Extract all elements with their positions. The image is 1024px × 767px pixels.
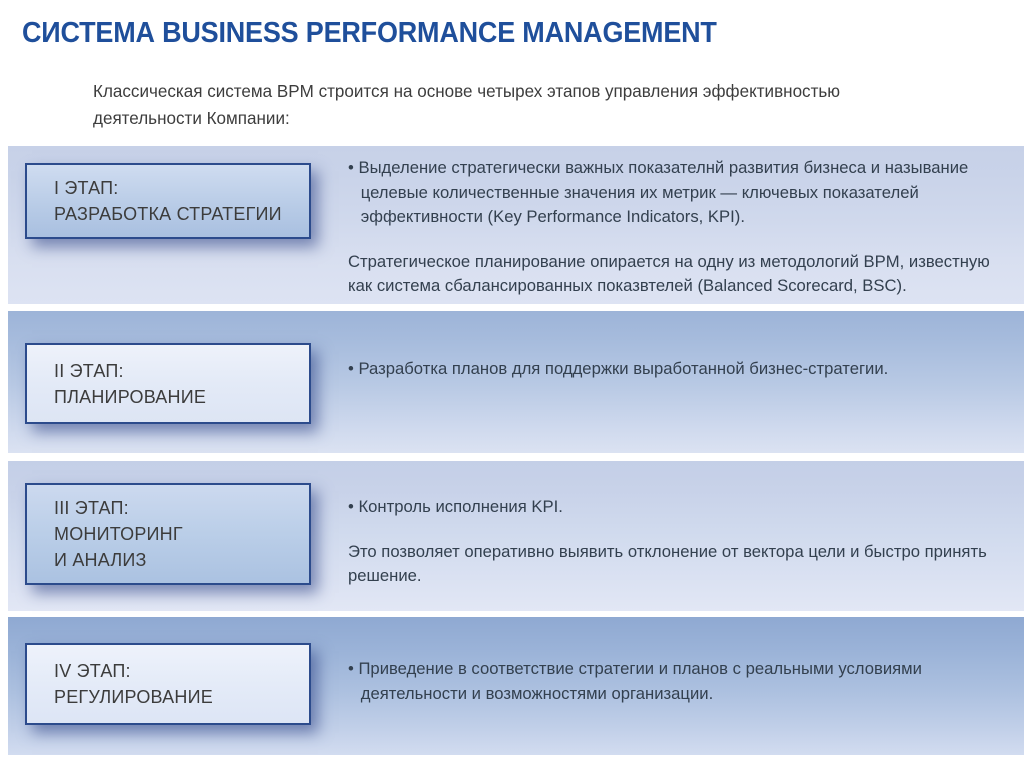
stage-row-4: IV ЭТАП: РЕГУЛИРОВАНИЕ • Приведение в со… (8, 617, 1024, 755)
intro-paragraph: Классическая система BPM строится на осн… (93, 78, 951, 132)
stage-description-paragraph: Стратегическое планирование опирается на… (348, 250, 1007, 299)
stage-description-paragraph: Это позволяет оперативно выявить отклоне… (348, 540, 1007, 589)
stage-description-3: • Контроль исполнения KPI. Это позволяет… (348, 495, 1007, 589)
stage-label-text-2: II ЭТАП: ПЛАНИРОВАНИЕ (54, 358, 206, 410)
stage-row-1: I ЭТАП: РАЗРАБОТКА СТРАТЕГИИ • Выделение… (8, 146, 1024, 304)
stage-description-paragraph: • Разработка планов для поддержки вырабо… (348, 357, 1007, 382)
stage-description-1: • Выделение стратегически важных показат… (348, 156, 1007, 299)
stage-label-box-3: III ЭТАП: МОНИТОРИНГ И АНАЛИЗ (25, 483, 311, 585)
stage-label-box-1: I ЭТАП: РАЗРАБОТКА СТРАТЕГИИ (25, 163, 311, 239)
stage-description-4: • Приведение в соответствие стратегии и … (348, 657, 1007, 706)
slide-canvas: Система Business Performance Management … (0, 0, 1024, 767)
stage-label-text-1: I ЭТАП: РАЗРАБОТКА СТРАТЕГИИ (54, 175, 282, 227)
stage-description-paragraph: • Выделение стратегически важных показат… (348, 156, 1007, 230)
stage-label-text-3: III ЭТАП: МОНИТОРИНГ И АНАЛИЗ (54, 495, 183, 573)
stage-row-2: II ЭТАП: ПЛАНИРОВАНИЕ • Разработка плано… (8, 311, 1024, 453)
stage-label-box-2: II ЭТАП: ПЛАНИРОВАНИЕ (25, 343, 311, 424)
stage-label-text-4: IV ЭТАП: РЕГУЛИРОВАНИЕ (54, 658, 213, 710)
stage-row-3: III ЭТАП: МОНИТОРИНГ И АНАЛИЗ • Контроль… (8, 461, 1024, 611)
stage-label-box-4: IV ЭТАП: РЕГУЛИРОВАНИЕ (25, 643, 311, 725)
stage-description-paragraph: • Контроль исполнения KPI. (348, 495, 1007, 520)
stage-description-paragraph: • Приведение в соответствие стратегии и … (348, 657, 1007, 706)
page-title: Система Business Performance Management (22, 17, 717, 50)
stage-description-2: • Разработка планов для поддержки вырабо… (348, 357, 1007, 382)
